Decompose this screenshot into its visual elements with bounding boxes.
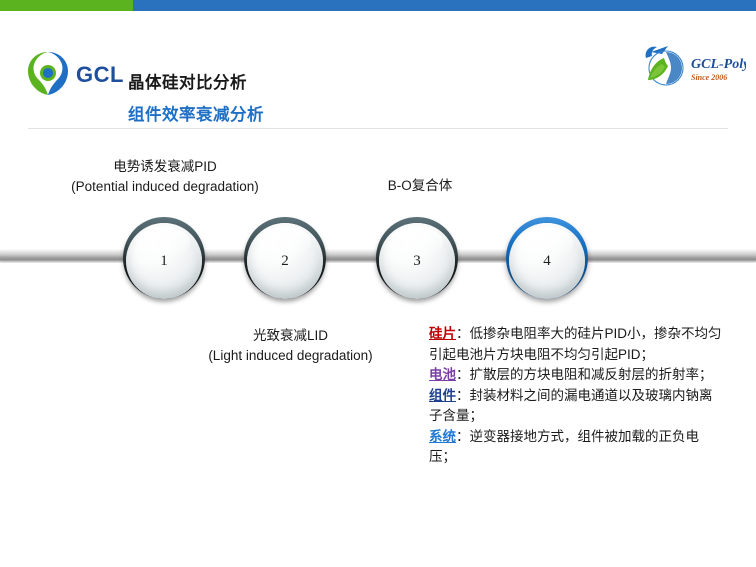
- timeline-node-4[interactable]: 4: [506, 217, 588, 299]
- detail-sep: ：: [456, 326, 470, 341]
- label-lid-en: (Light induced degradation): [188, 346, 393, 366]
- detail-text-wafer: 低掺杂电阻率大的硅片PID小，掺杂不均匀引起电池片方块电阻不均匀引起PID；: [429, 326, 722, 362]
- svg-text:GCL: GCL: [76, 62, 124, 87]
- page-subtitle: 组件效率衰减分析: [128, 101, 264, 125]
- slide-header: GCL GCL-Poly Since 2006 晶体硅对比分析 组件效率衰减分析: [0, 11, 756, 128]
- detail-text-system: 逆变器接地方式，组件被加载的正负电压；: [429, 429, 699, 465]
- page-title: 晶体硅对比分析: [128, 69, 247, 93]
- node-number: 4: [509, 223, 585, 299]
- topbar-blue-accent: [133, 0, 756, 11]
- node-number: 2: [247, 223, 323, 299]
- topbar-green-accent: [0, 0, 133, 11]
- slide-canvas: GCL GCL-Poly Since 2006 晶体硅对比分析 组件效率衰减分析: [0, 0, 756, 567]
- detail-item-system: 系统：逆变器接地方式，组件被加载的正负电压；: [429, 427, 725, 468]
- label-bo: B-O复合体: [340, 176, 500, 196]
- detail-text-module: 封装材料之间的漏电通道以及玻璃内钠离子含量；: [429, 388, 713, 424]
- detail-sep: ：: [456, 388, 470, 403]
- timeline-node-3[interactable]: 3: [376, 217, 458, 299]
- detail-tag-wafer: 硅片: [429, 326, 456, 341]
- label-pid-en: (Potential induced degradation): [40, 177, 290, 197]
- detail-item-cell: 电池：扩散层的方块电阻和减反射层的折射率；: [429, 365, 725, 386]
- detail-tag-module: 组件: [429, 388, 456, 403]
- detail-item-module: 组件：封装材料之间的漏电通道以及玻璃内钠离子含量；: [429, 386, 725, 427]
- gcl-poly-logo-mark: GCL-Poly Since 2006: [638, 44, 746, 92]
- label-lid: 光致衰减LID (Light induced degradation): [188, 326, 393, 365]
- timeline-node-2[interactable]: 2: [244, 217, 326, 299]
- gcl-poly-logo: GCL-Poly Since 2006: [638, 44, 746, 92]
- timeline-node-1[interactable]: 1: [123, 217, 205, 299]
- header-divider: [28, 128, 728, 129]
- svg-text:GCL-Poly: GCL-Poly: [691, 57, 746, 72]
- node-number: 1: [126, 223, 202, 299]
- pid-factor-list: 硅片：低掺杂电阻率大的硅片PID小，掺杂不均匀引起电池片方块电阻不均匀引起PID…: [429, 324, 725, 468]
- label-pid: 电势诱发衰减PID (Potential induced degradation…: [40, 157, 290, 196]
- detail-sep: ：: [456, 367, 470, 382]
- gcl-logo: GCL: [26, 49, 138, 97]
- label-bo-cn: B-O复合体: [340, 176, 500, 196]
- gcl-logo-mark: GCL: [26, 49, 138, 97]
- node-number: 3: [379, 223, 455, 299]
- detail-item-wafer: 硅片：低掺杂电阻率大的硅片PID小，掺杂不均匀引起电池片方块电阻不均匀引起PID…: [429, 324, 725, 365]
- label-lid-cn: 光致衰减LID: [188, 326, 393, 346]
- detail-tag-cell: 电池: [429, 367, 456, 382]
- svg-text:Since 2006: Since 2006: [691, 73, 727, 82]
- label-pid-cn: 电势诱发衰减PID: [40, 157, 290, 177]
- detail-tag-system: 系统: [429, 429, 456, 444]
- detail-sep: ：: [456, 429, 470, 444]
- detail-text-cell: 扩散层的方块电阻和减反射层的折射率；: [470, 367, 713, 382]
